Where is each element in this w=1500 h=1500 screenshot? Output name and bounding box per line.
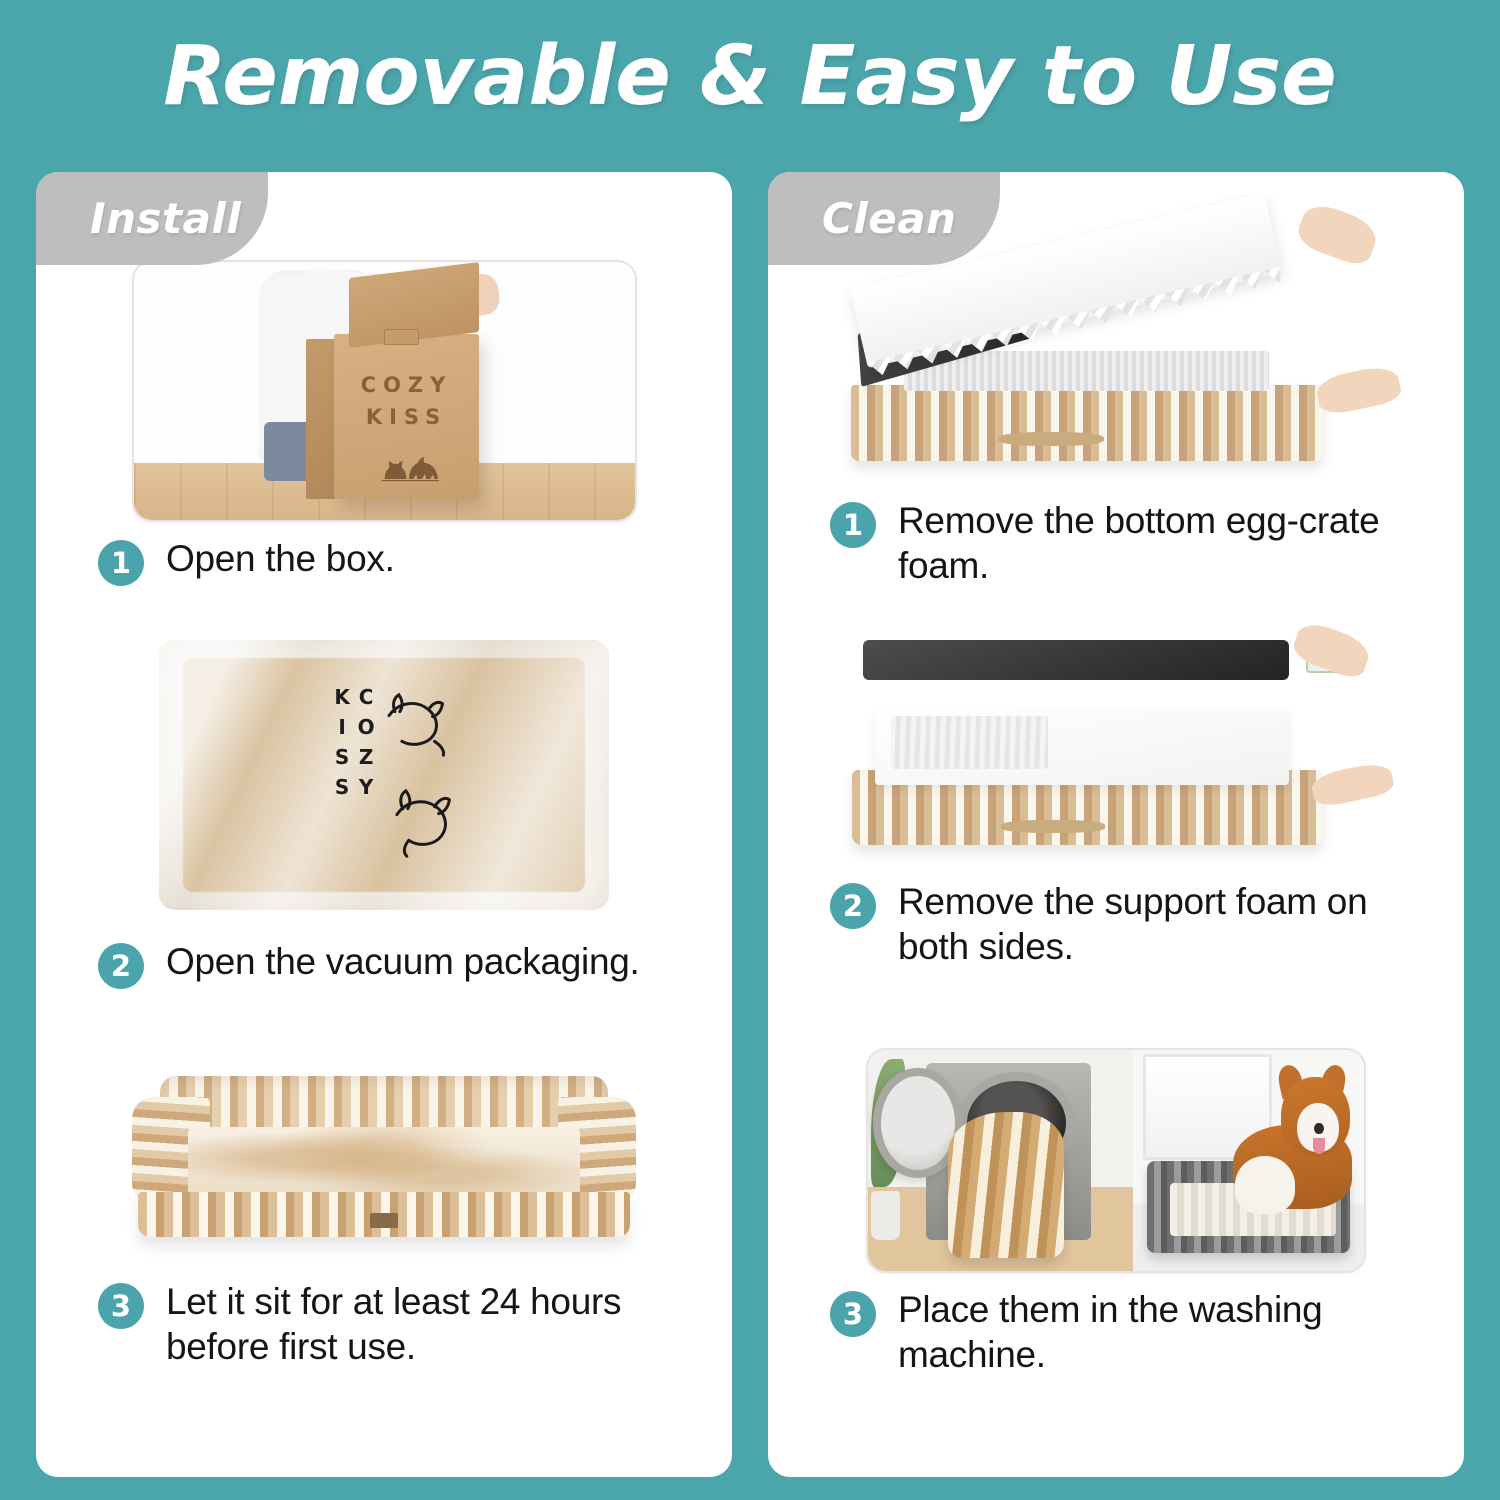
step-badge: 2 xyxy=(98,943,144,989)
step-badge: 3 xyxy=(830,1291,876,1337)
clean-step-2-caption: 2 Remove the support foam on both sides. xyxy=(768,865,1464,969)
carry-handle xyxy=(998,432,1104,447)
clean-step-1-caption: 1 Remove the bottom egg-crate foam. xyxy=(768,484,1464,588)
plant-pot xyxy=(871,1191,900,1240)
install-step-1-caption: 1 Open the box. xyxy=(36,522,732,586)
carton-brand-line-2: KISS xyxy=(334,402,479,434)
washing-machine-photo xyxy=(866,1048,1366,1273)
corgi-chest xyxy=(1235,1156,1295,1213)
upper-hand xyxy=(1293,200,1381,270)
bed-cover-being-loaded xyxy=(948,1112,1065,1258)
step-text: Open the vacuum packaging. xyxy=(166,939,640,984)
cat-and-dog-icon xyxy=(364,448,454,487)
carton-side-panel xyxy=(306,339,336,499)
corgi-half xyxy=(1133,1050,1364,1271)
bed-brand-tag xyxy=(370,1213,398,1228)
step-badge: 1 xyxy=(98,540,144,586)
carton-latch xyxy=(384,329,419,344)
step-badge: 2 xyxy=(830,883,876,929)
expanded-bed-scene xyxy=(104,1050,664,1265)
bed-cover-base xyxy=(851,385,1323,460)
columns-container: Install xyxy=(0,172,1500,1477)
lower-hand xyxy=(1309,759,1394,808)
carry-handle xyxy=(1001,820,1105,833)
step-text: Remove the support foam on both sides. xyxy=(898,879,1428,969)
clean-tab[interactable]: Clean xyxy=(768,172,1000,265)
unboxing-photo: COZY KISS xyxy=(132,260,637,522)
clean-card: Clean 1 Remove xyxy=(768,172,1464,1477)
page-title: Removable & Easy to Use xyxy=(0,0,1500,120)
clean-step-2: 2 Remove the support foam on both sides. xyxy=(768,603,1464,1034)
expanded-bed-photo xyxy=(104,1050,664,1265)
install-steps: COZY KISS 1 Open the box. xyxy=(36,172,732,1477)
install-step-2: COZY KISS xyxy=(36,603,732,1034)
install-step-3-caption: 3 Let it sit for at least 24 hours befor… xyxy=(36,1265,732,1369)
step-text: Let it sit for at least 24 hours before … xyxy=(166,1279,696,1369)
support-foam-photo xyxy=(829,615,1404,865)
step-badge: 3 xyxy=(98,1283,144,1329)
carton-brand-text: COZY KISS xyxy=(334,370,479,433)
clean-tab-label: Clean xyxy=(822,194,956,243)
install-tab-label: Install xyxy=(90,194,241,243)
clean-step-3: 3 Place them in the washing machine. xyxy=(768,1034,1464,1465)
step-text: Open the box. xyxy=(166,536,395,581)
step-badge: 1 xyxy=(830,502,876,548)
carton-brand-line-1: COZY xyxy=(334,370,479,402)
install-step-2-caption: 2 Open the vacuum packaging. xyxy=(36,925,732,989)
black-zip-panel xyxy=(863,640,1289,680)
step-text: Place them in the washing machine. xyxy=(898,1287,1428,1377)
corgi-nose xyxy=(1314,1123,1323,1134)
clean-step-3-caption: 3 Place them in the washing machine. xyxy=(768,1273,1464,1377)
install-step-3: 3 Let it sit for at least 24 hours befor… xyxy=(36,1034,732,1465)
corgi-tongue xyxy=(1313,1138,1325,1153)
unboxing-scene: COZY KISS xyxy=(134,262,635,520)
vacuum-pack-photo: COZY KISS xyxy=(139,625,629,925)
install-card: Install xyxy=(36,172,732,1477)
white-support-foam xyxy=(875,710,1289,785)
clean-steps: 1 Remove the bottom egg-crate foam. xyxy=(768,172,1464,1477)
pet-line-art-icon xyxy=(355,676,482,874)
washing-machine-scene xyxy=(868,1050,1364,1271)
support-foam-scene xyxy=(829,615,1404,865)
step-text: Remove the bottom egg-crate foam. xyxy=(898,498,1428,588)
install-tab[interactable]: Install xyxy=(36,172,268,265)
vacuum-pack-scene: COZY KISS xyxy=(139,625,629,925)
lower-hand xyxy=(1314,363,1403,417)
laundry-room-half xyxy=(868,1050,1133,1271)
